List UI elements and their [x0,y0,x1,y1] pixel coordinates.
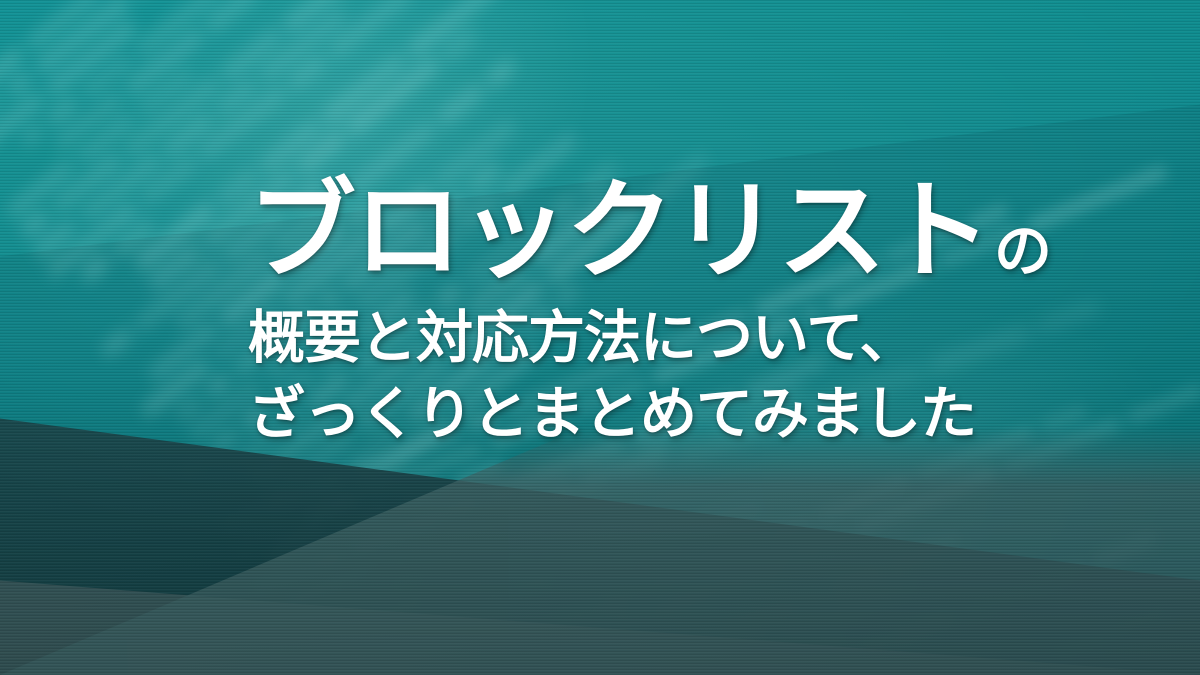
headline-main-text: ブロックリスト [248,178,990,286]
subtitle-line-2: ざっくりとまとめてみました [248,376,1148,452]
slide-canvas: ブロックリスト の 概要と対応方法について、 ざっくりとまとめてみました [0,0,1200,675]
title-text-block: ブロックリスト の 概要と対応方法について、 ざっくりとまとめてみました [248,178,1148,453]
subtitle-line-1: 概要と対応方法について、 [248,300,1148,376]
subtitle: 概要と対応方法について、 ざっくりとまとめてみました [248,300,1148,453]
headline-suffix-particle: の [994,222,1052,286]
headline: ブロックリスト の [248,178,1148,286]
